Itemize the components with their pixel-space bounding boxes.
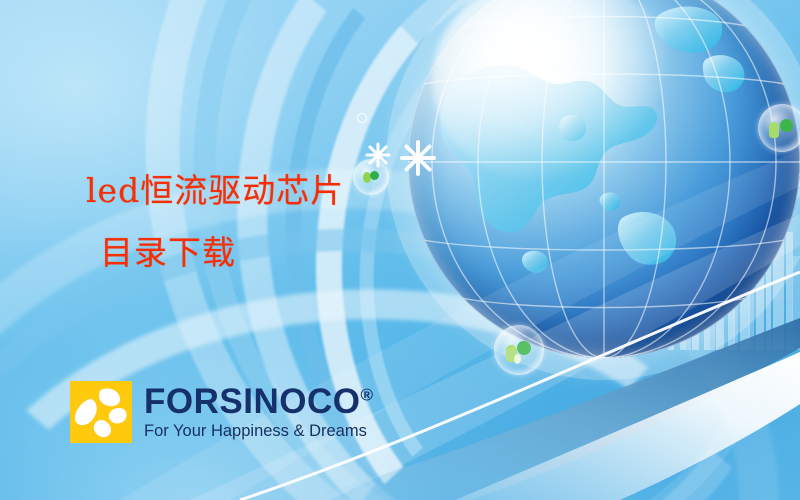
bubble-icon [353,159,389,195]
brand-tagline: For Your Happiness & Dreams [144,421,373,441]
earth-globe-icon [408,0,800,358]
sparkle-icon [356,112,368,124]
brand-name: FORSINOCO® [144,384,373,419]
headline-line-2: 目录下载 [100,222,344,284]
promo-banner: led恒流驱动芯片 目录下载 FORSINOCO® For Your Happi… [0,0,800,500]
pinwheel-flower-icon [70,381,132,443]
sparkle-icon [400,140,436,176]
bubble-icon [758,104,800,152]
bubble-icon [494,325,544,375]
company-logo: FORSINOCO® For Your Happiness & Dreams [70,381,373,443]
headline: led恒流驱动芯片 目录下载 [86,160,344,284]
headline-line-1: led恒流驱动芯片 [86,171,344,210]
registered-mark: ® [360,385,373,404]
pinwheel-petals [70,381,132,443]
brand-word: FORSINOCO [144,382,360,421]
logo-text-block: FORSINOCO® For Your Happiness & Dreams [144,384,373,441]
